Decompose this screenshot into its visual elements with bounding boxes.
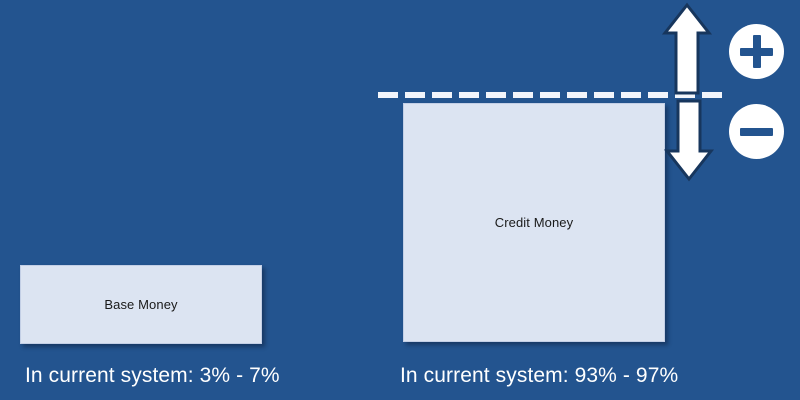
arrow-up-icon[interactable] xyxy=(662,2,712,96)
base-money-label: Base Money xyxy=(104,297,177,313)
plus-icon[interactable] xyxy=(729,24,784,79)
credit-money-box[interactable]: Credit Money xyxy=(403,103,665,342)
base-money-caption: In current system: 3% - 7% xyxy=(25,363,280,389)
threshold-dash xyxy=(459,92,479,98)
threshold-dash xyxy=(432,92,452,98)
threshold-dash xyxy=(378,92,398,98)
threshold-dash xyxy=(540,92,560,98)
minus-icon[interactable] xyxy=(729,104,784,159)
plus-icon-vertical-bar xyxy=(753,35,761,68)
base-money-box[interactable]: Base Money xyxy=(20,265,262,344)
threshold-dash xyxy=(567,92,587,98)
threshold-dash xyxy=(486,92,506,98)
minus-icon-horizontal-bar xyxy=(740,128,773,136)
threshold-dash xyxy=(621,92,641,98)
threshold-dash xyxy=(405,92,425,98)
threshold-dash xyxy=(594,92,614,98)
arrow-down-icon[interactable] xyxy=(664,98,714,182)
credit-money-caption: In current system: 93% - 97% xyxy=(400,363,678,389)
credit-money-label: Credit Money xyxy=(495,215,574,231)
threshold-dash xyxy=(513,92,533,98)
diagram-canvas: Base Money Credit Money In current syste… xyxy=(0,0,800,400)
